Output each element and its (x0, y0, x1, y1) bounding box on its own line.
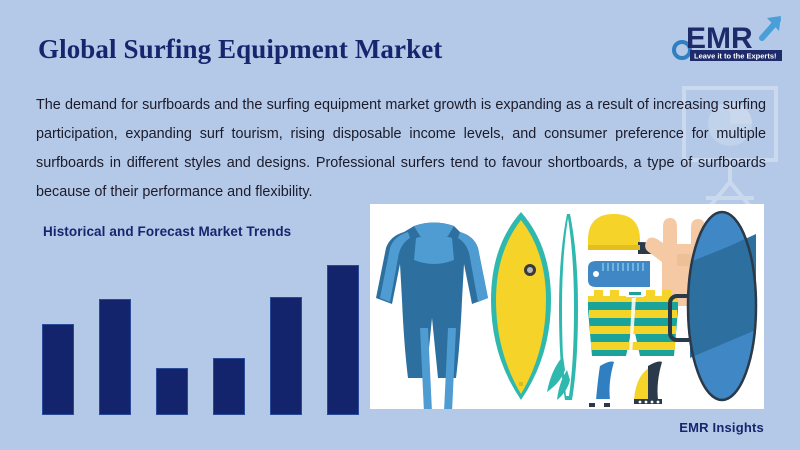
bar-6 (327, 265, 359, 415)
yellow-surfboard-graphic (491, 212, 551, 400)
slide-canvas: EMR Leave it to the Experts! Global Surf… (0, 0, 800, 450)
fin-yellow-graphic (634, 362, 662, 405)
page-title: Global Surfing Equipment Market (38, 34, 442, 65)
bar-1 (42, 324, 74, 415)
surfing-equipment-illustration (370, 204, 764, 409)
wetsuit-graphic (376, 223, 488, 410)
chart-plot-area (38, 253, 358, 415)
chart-title: Historical and Forecast Market Trends (43, 224, 358, 239)
bar-5 (270, 297, 302, 415)
logo-tagline: Leave it to the Experts! (694, 52, 777, 61)
market-description: The demand for surfboards and the surfin… (36, 91, 766, 207)
bar-2 (99, 299, 131, 415)
fin-blue-graphic (586, 362, 614, 408)
bar-4 (213, 358, 245, 415)
market-trends-chart: Historical and Forecast Market Trends (38, 224, 358, 415)
wax-comb-graphic (588, 261, 650, 287)
board-shorts-graphic (588, 290, 678, 356)
bar-3 (156, 368, 188, 415)
surfboard-side-profile-graphic (547, 214, 578, 400)
emr-logo[interactable]: EMR Leave it to the Experts! (670, 12, 786, 64)
footer-insights-label: EMR Insights (679, 420, 764, 435)
